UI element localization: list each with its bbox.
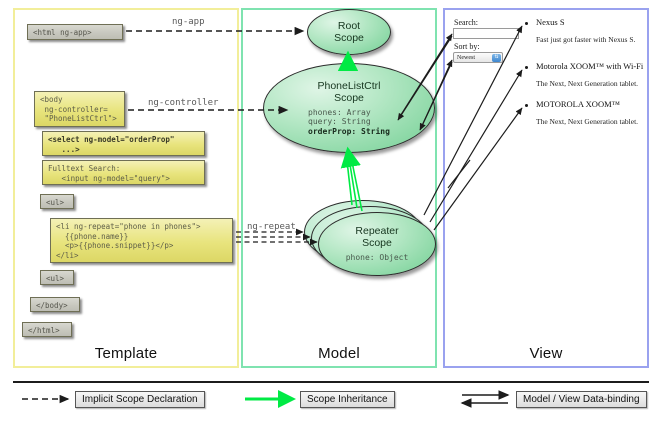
code-box-html-close-tag: </html> — [22, 322, 72, 337]
scope-repeater-props: phone: Object — [346, 253, 409, 263]
view-sort-select[interactable]: Newest ⇅ — [453, 52, 503, 63]
scope-phonelistctrl: PhoneListCtrl Scope phones: Array query:… — [263, 63, 435, 153]
view-item-title: MOTOROLA XOOM™ — [536, 99, 620, 109]
scope-phonelistctrl-title: PhoneListCtrl Scope — [317, 80, 380, 104]
diagram-canvas: Template Model View <html ng-app> <body … — [0, 0, 661, 425]
scope-prop-orderprop: orderProp: String — [308, 127, 390, 136]
connector-label-ng-app: ng-app — [172, 17, 205, 27]
view-search-input[interactable] — [453, 28, 519, 39]
code-box-select-tag: <select ng-model="orderProp" ...> — [42, 131, 205, 156]
panel-view-label: View — [445, 345, 647, 362]
code-box-input-tag: Fulltext Search: <input ng-model="query"… — [42, 160, 205, 185]
code-box-ul-close-tag: <ul> — [40, 270, 74, 285]
view-bullet-icon — [525, 66, 528, 69]
view-item-snippet: Fast just got faster with Nexus S. — [536, 35, 635, 44]
panel-template: Template — [13, 8, 239, 368]
legend-implicit-scope-declaration: Implicit Scope Declaration — [75, 391, 205, 408]
view-bullet-icon — [525, 104, 528, 107]
view-bullet-icon — [525, 22, 528, 25]
view-search-label: Search: — [454, 18, 478, 27]
scope-phonelistctrl-props: phones: Array query: String orderProp: S… — [308, 108, 390, 137]
panel-template-label: Template — [15, 345, 237, 362]
code-box-body-tag: <body ng-controller= "PhoneListCtrl"> — [34, 91, 125, 127]
code-box-li-repeat-tag: <li ng-repeat="phone in phones"> {{phone… — [50, 218, 233, 263]
scope-root-title: Root Scope — [334, 20, 364, 44]
legend-scope-inheritance: Scope Inheritance — [300, 391, 395, 408]
code-box-html-tag: <html ng-app> — [27, 24, 123, 40]
scope-repeater: Repeater Scope phone: Object — [318, 212, 436, 276]
code-box-body-close-tag: </body> — [30, 297, 80, 312]
legend-divider — [13, 381, 649, 383]
view-item-title: Motorola XOOM™ with Wi-Fi — [536, 61, 643, 71]
connector-label-ng-repeat: ng-repeat — [247, 222, 296, 232]
panel-model: Model — [241, 8, 437, 368]
view-item-snippet: The Next, Next Generation tablet. — [536, 117, 638, 126]
scope-repeater-title: Repeater Scope — [355, 225, 398, 249]
view-sort-label: Sort by: — [454, 42, 480, 51]
scope-root: Root Scope — [307, 9, 391, 55]
view-item-snippet: The Next, Next Generation tablet. — [536, 79, 638, 88]
chevron-updown-icon: ⇅ — [492, 54, 501, 62]
view-item-title: Nexus S — [536, 17, 565, 27]
code-box-ul-open-tag: <ul> — [40, 194, 74, 209]
panel-model-label: Model — [243, 345, 435, 362]
connector-label-ng-controller: ng-controller — [148, 98, 218, 108]
legend-model-view-data-binding: Model / View Data-binding — [516, 391, 647, 408]
view-sort-value: Newest — [457, 55, 475, 61]
